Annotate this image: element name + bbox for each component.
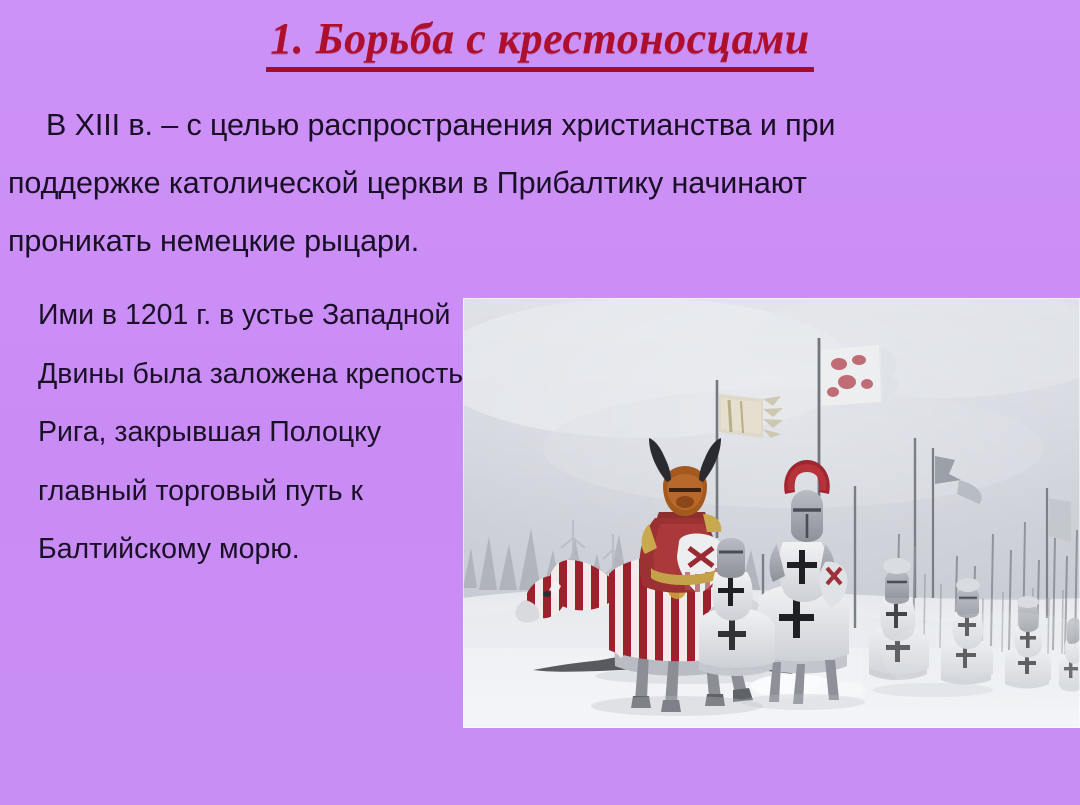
slide-title-text: 1. Борьба с крестоносцами bbox=[266, 16, 814, 72]
intro-paragraph: В XIII в. – с целью распространения хрис… bbox=[8, 96, 953, 270]
slide-canvas: 1. Борьба с крестоносцами В XIII в. – с … bbox=[0, 0, 1080, 805]
knights-illustration bbox=[463, 298, 1080, 728]
teutonic-knights-photo bbox=[463, 298, 1080, 728]
body-paragraph: Ими в 1201 г. в устье Западной Двины был… bbox=[38, 286, 468, 579]
page-title: 1. Борьба с крестоносцами bbox=[0, 16, 1080, 72]
